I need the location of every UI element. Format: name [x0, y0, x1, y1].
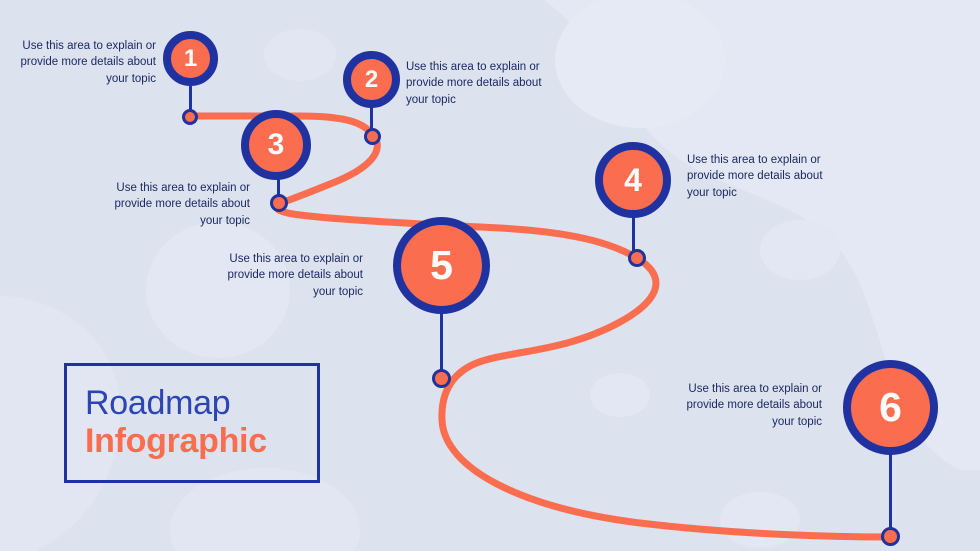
- milestone-dot-6[interactable]: [881, 527, 900, 546]
- milestone-stem-2: [370, 107, 373, 130]
- milestone-dot-3[interactable]: [270, 194, 288, 212]
- milestone-number-5: 5: [430, 245, 453, 286]
- milestone-stem-1: [189, 86, 192, 111]
- title-line-roadmap: Roadmap: [85, 386, 317, 422]
- roadmap-infographic-slide: 1 Use this area to explain or provide mo…: [0, 0, 980, 551]
- milestone-dot-5[interactable]: [432, 369, 451, 388]
- milestone-caption-2: Use this area to explain or provide more…: [406, 59, 556, 108]
- milestone-circle-6[interactable]: 6: [843, 360, 938, 455]
- title-line-infographic: Infographic: [85, 422, 317, 460]
- milestone-stem-4: [632, 217, 635, 251]
- milestone-number-3: 3: [268, 130, 285, 160]
- milestone-caption-1: Use this area to explain or provide more…: [8, 38, 156, 87]
- milestone-dot-4[interactable]: [628, 249, 646, 267]
- milestone-number-6: 6: [879, 387, 902, 428]
- milestone-dot-2[interactable]: [364, 128, 381, 145]
- milestone-caption-4: Use this area to explain or provide more…: [687, 152, 837, 201]
- milestone-number-1: 1: [184, 47, 197, 71]
- milestone-circle-3[interactable]: 3: [241, 110, 311, 180]
- milestone-number-4: 4: [624, 164, 642, 196]
- milestone-circle-5[interactable]: 5: [393, 217, 490, 314]
- milestone-caption-5: Use this area to explain or provide more…: [213, 251, 363, 300]
- milestone-circle-1[interactable]: 1: [163, 31, 218, 86]
- milestone-stem-6: [889, 454, 892, 529]
- milestone-caption-3: Use this area to explain or provide more…: [100, 180, 250, 229]
- milestone-stem-5: [440, 313, 443, 371]
- milestone-dot-1[interactable]: [182, 109, 198, 125]
- title-box: Roadmap Infographic: [64, 363, 320, 483]
- milestone-caption-6: Use this area to explain or provide more…: [672, 381, 822, 430]
- milestone-circle-2[interactable]: 2: [343, 51, 400, 108]
- milestone-number-2: 2: [365, 68, 378, 92]
- milestone-circle-4[interactable]: 4: [595, 142, 671, 218]
